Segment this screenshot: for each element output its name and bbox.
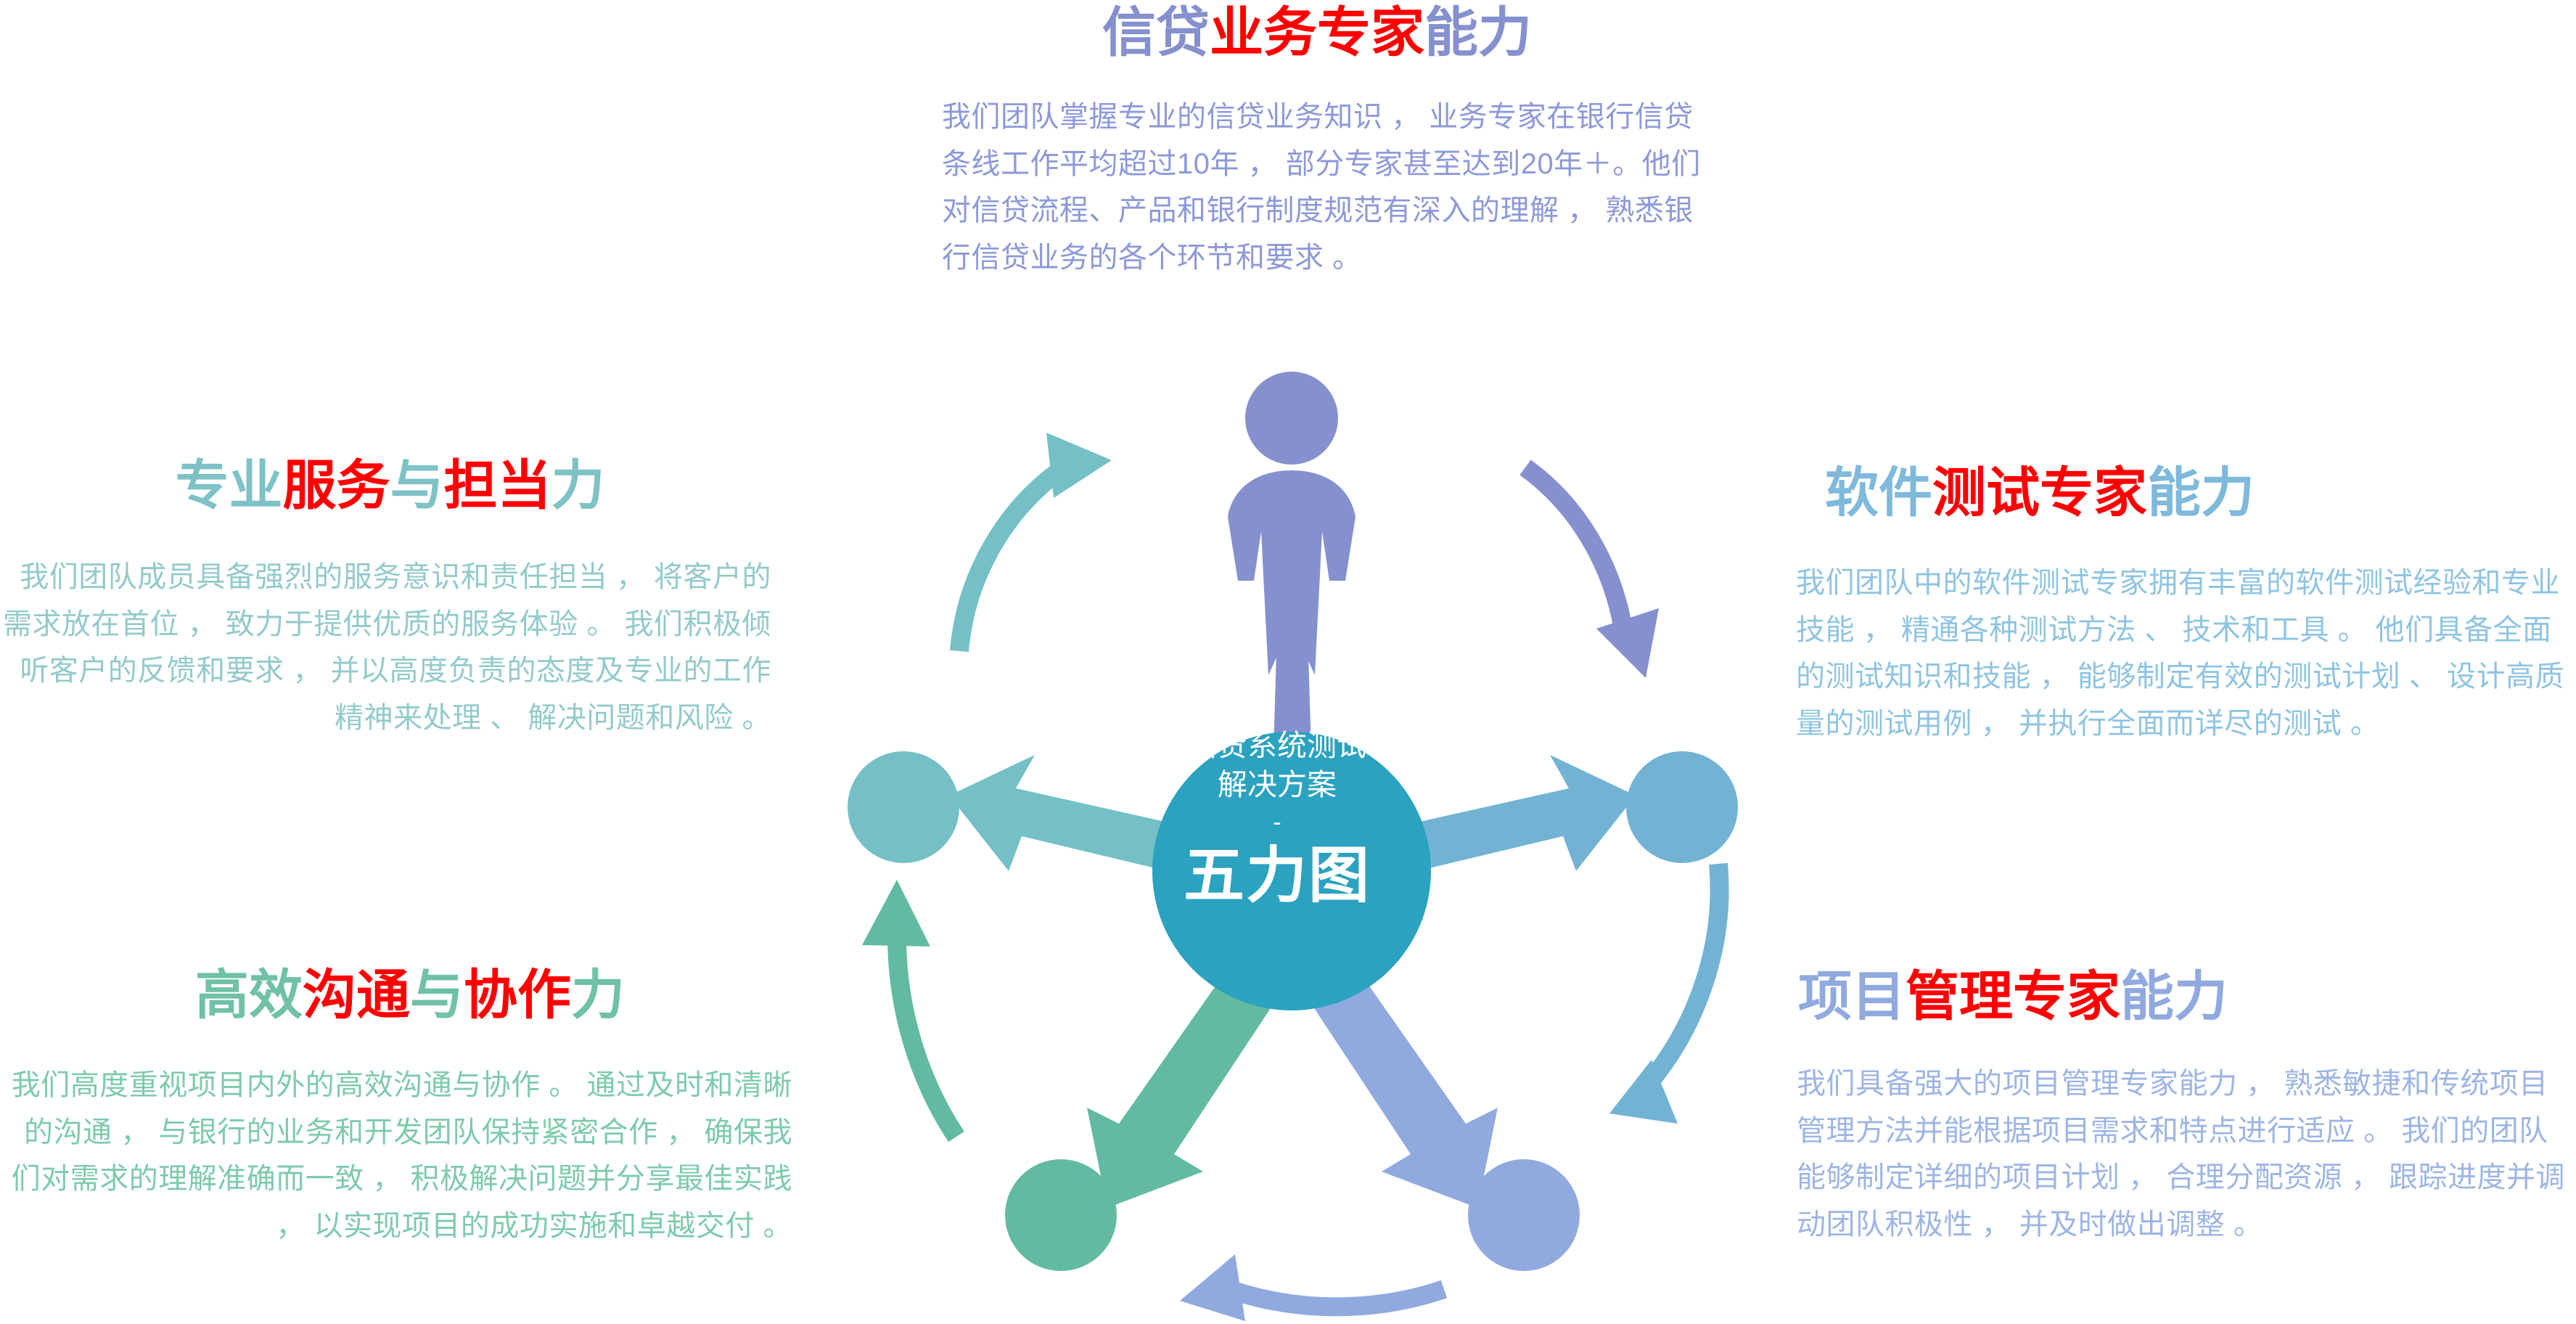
heading-text-part1: 软件 [1825,462,1932,523]
heading-text-part2: 能力 [2147,462,2255,523]
infographic-canvas: 信贷业务专家能力 我们团队掌握专业的信贷业务知识 ， 业务专家在银行信贷条线工作… [0,0,2576,1324]
heading-text-highlight-2: 担当 [444,455,551,515]
node-circle-right[interactable] [1626,751,1738,863]
heading-text-part2: 能力 [2120,966,2228,1026]
heading-text-part1: 专业 [176,455,283,515]
section-heading-communication: 高效沟通与协作力 [0,965,798,1026]
section-software-testing: 软件测试专家能力 我们团队中的软件测试专家拥有丰富的软件测试经验和专业技能 ， … [1789,463,2569,748]
section-body-service: 我们团队成员具备强烈的服务意识和责任担当 ， 将客户的需求放在首位 ， 致力于提… [0,554,780,742]
section-heading-credit: 信贷业务专家能力 [929,0,1705,63]
center-circle[interactable] [1152,732,1431,1010]
section-project-management: 项目管理专家能力 我们具备强大的项目管理专家能力 ， 熟悉敏捷和传统项目管理方法… [1776,967,2576,1249]
ring-arrow-bottom-icon [1180,1254,1444,1321]
section-heading-service: 专业服务与担当力 [0,456,780,516]
heading-text-part2: 力 [551,455,605,515]
section-body-communication: 我们高度重视项目内外的高效沟通与协作 。 通过及时和清晰的沟通 ， 与银行的业务… [0,1062,798,1250]
heading-text-highlight: 业务专家 [1210,2,1424,62]
heading-text-highlight: 服务 [283,455,390,515]
section-communication: 高效沟通与协作力 我们高度重视项目内外的高效沟通与协作 。 通过及时和清晰的沟通… [0,965,798,1250]
node-circle-bottom-left[interactable] [1005,1159,1117,1271]
section-credit-expertise: 信贷业务专家能力 我们团队掌握专业的信贷业务知识 ， 业务专家在银行信贷条线工作… [929,0,1705,282]
heading-text-part2: 能力 [1424,2,1532,62]
heading-text-part1: 信贷 [1102,2,1210,62]
section-body-testing: 我们团队中的软件测试专家拥有丰富的软件测试经验和专业技能 ， 精通各种测试方法 … [1789,560,2569,748]
heading-text-highlight: 管理专家 [1906,966,2120,1026]
ring-arrow-top-left-icon [959,433,1112,651]
ring-arrow-right-icon [1609,864,1720,1124]
ring-arrow-left-lower-icon [862,880,956,1137]
heading-text-part1: 项目 [1798,966,1906,1026]
section-body-credit: 我们团队掌握专业的信贷业务知识 ， 业务专家在银行信贷条线工作平均超过10年 ，… [929,94,1705,282]
heading-text-highlight: 测试专家 [1932,462,2147,523]
section-professional-service: 专业服务与担当力 我们团队成员具备强烈的服务意识和责任担当 ， 将客户的需求放在… [0,456,780,742]
section-body-project-management: 我们具备强大的项目管理专家能力 ， 熟悉敏捷和传统项目管理方法并能根据项目需求和… [1776,1061,2576,1249]
heading-text-highlight-2: 协作 [464,965,571,1025]
heading-text-part2: 力 [571,965,625,1025]
heading-text-highlight: 沟通 [303,965,410,1025]
heading-text-mid: 与 [390,455,444,515]
heading-text-part1: 高效 [195,965,303,1025]
five-force-diagram [791,363,1792,1324]
node-circle-bottom-right[interactable] [1468,1159,1580,1271]
section-heading-project-management: 项目管理专家能力 [1776,967,2576,1027]
heading-text-mid: 与 [410,965,464,1025]
ring-arrow-top-right-icon [1525,467,1659,678]
section-heading-testing: 软件测试专家能力 [1789,463,2569,523]
node-circle-left[interactable] [848,751,959,863]
